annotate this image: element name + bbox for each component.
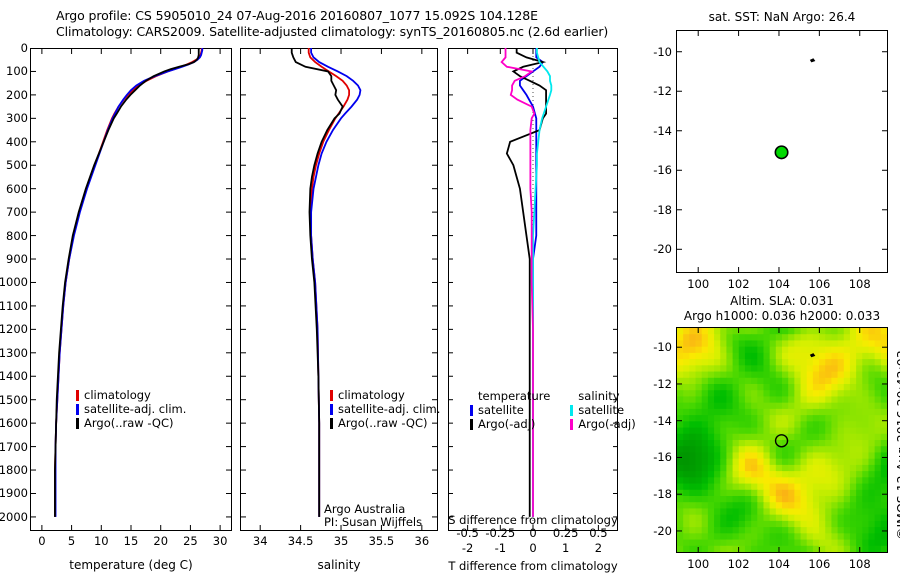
legend-item: Argo(..raw -QC): [76, 416, 186, 430]
tick-label: 900: [0, 252, 28, 266]
figure-title-line-2: Climatology: CARS2009. Satellite-adjuste…: [56, 24, 608, 39]
legend-label: climatology: [84, 389, 151, 402]
legend-swatch-satellite-clim: [76, 404, 79, 415]
legend-label: satellite: [478, 404, 524, 417]
difference-legend-salinity-column: salinity satellite Argo(-adj): [570, 389, 635, 431]
sla-map-overlay: [676, 327, 888, 553]
legend-header-temperature: temperature: [478, 390, 550, 403]
legend-item: satellite-adj. clim.: [76, 402, 186, 416]
tick-label: -14: [634, 124, 672, 138]
figure-title-line-1: Argo profile: CS 5905010_24 07-Aug-2016 …: [56, 8, 538, 23]
salinity-plot-canvas: [240, 48, 438, 531]
tick-label: 200: [0, 88, 28, 102]
temperature-plot-canvas: [30, 48, 232, 531]
tick-label: 1400: [0, 369, 28, 383]
legend-label: Argo(-adj): [478, 418, 535, 431]
tick-label: 0: [0, 41, 28, 55]
sla-map-title-line-1: Altim. SLA: 0.031: [676, 294, 888, 308]
tick-label: -14: [634, 414, 672, 428]
tick-label: -20: [634, 242, 672, 256]
tick-label: 500: [0, 158, 28, 172]
tick-label: 1500: [0, 393, 28, 407]
tick-label: 1800: [0, 463, 28, 477]
temperature-legend: climatology satellite-adj. clim. Argo(..…: [76, 388, 186, 430]
legend-label: Argo(-adj): [578, 418, 635, 431]
legend-item: satellite: [470, 403, 550, 417]
tick-label: 1000: [0, 275, 28, 289]
legend-label: Argo(..raw -QC): [338, 417, 428, 430]
tick-label: -12: [634, 377, 672, 391]
tick-label: 36: [397, 534, 447, 548]
salinity-legend: climatology satellite-adj. clim. Argo(..…: [330, 388, 440, 430]
tick-label: -16: [634, 450, 672, 464]
argo-australia-pi-note: PI: Susan Wijffels: [324, 516, 422, 530]
sla-map-title-line-2: Argo h1000: 0.036 h2000: 0.033: [666, 309, 898, 323]
tick-label: 1300: [0, 346, 28, 360]
legend-label: satellite: [578, 404, 624, 417]
legend-item: Argo(-adj): [470, 417, 550, 431]
legend-item: satellite-adj. clim.: [330, 402, 440, 416]
sst-map-title: sat. SST: NaN Argo: 26.4: [676, 10, 888, 24]
difference-legend-temperature-column: temperature satellite Argo(-adj): [470, 389, 550, 431]
difference-plot-canvas: [448, 48, 618, 531]
temperature-difference-axis-title: T difference from climatology: [443, 559, 623, 573]
tick-label: 800: [0, 229, 28, 243]
legend-label: Argo(..raw -QC): [84, 417, 174, 430]
tick-label: -10: [634, 45, 672, 59]
legend-label: satellite-adj. clim.: [84, 403, 186, 416]
legend-item: satellite: [570, 403, 635, 417]
tick-label: -12: [634, 84, 672, 98]
sst-map-canvas: [676, 30, 888, 273]
legend-swatch-argo-raw: [330, 418, 333, 429]
tick-label: 2: [573, 541, 623, 555]
tick-label: 108: [835, 277, 885, 291]
tick-label: 1200: [0, 322, 28, 336]
tick-label: 100: [0, 64, 28, 78]
tick-label: 0.5: [573, 526, 623, 540]
legend-item: climatology: [330, 388, 440, 402]
tick-label: -20: [634, 524, 672, 538]
legend-header-row: salinity: [570, 389, 635, 403]
legend-label: satellite-adj. clim.: [338, 403, 440, 416]
salinity-axis-title: salinity: [240, 558, 438, 572]
legend-item: Argo(..raw -QC): [330, 416, 440, 430]
legend-swatch-sal-argo-adj: [570, 419, 573, 430]
argo-profile-figure: Argo profile: CS 5905010_24 07-Aug-2016 …: [0, 0, 900, 580]
tick-label: 1600: [0, 416, 28, 430]
legend-item: climatology: [76, 388, 186, 402]
difference-legend: temperature satellite Argo(-adj) salinit…: [470, 389, 636, 431]
tick-label: 700: [0, 205, 28, 219]
tick-label: 400: [0, 135, 28, 149]
tick-label: 300: [0, 111, 28, 125]
tick-label: 1100: [0, 299, 28, 313]
legend-swatch-satellite-clim: [330, 404, 333, 415]
legend-item: Argo(-adj): [570, 417, 635, 431]
salinity-difference-axis-title: S difference from climatology: [448, 513, 618, 527]
legend-swatch-argo-raw: [76, 418, 79, 429]
tick-label: 600: [0, 182, 28, 196]
legend-header-row: temperature: [470, 389, 550, 403]
legend-swatch-climatology: [330, 390, 333, 401]
legend-label: climatology: [338, 389, 405, 402]
tick-label: -18: [634, 487, 672, 501]
legend-swatch-climatology: [76, 390, 79, 401]
copyright-label: ©IMOS 12-Aug-2016 20:42:03: [894, 350, 900, 540]
legend-swatch-temp-satellite: [470, 405, 473, 416]
tick-label: -18: [634, 203, 672, 217]
tick-label: 108: [835, 557, 885, 571]
tick-label: 1700: [0, 440, 28, 454]
tick-label: 1900: [0, 486, 28, 500]
temperature-axis-title: temperature (deg C): [30, 558, 232, 572]
tick-label: -16: [634, 163, 672, 177]
tick-label: 2000: [0, 510, 28, 524]
tick-label: -10: [634, 340, 672, 354]
legend-swatch-temp-argo-adj: [470, 419, 473, 430]
legend-swatch-sal-satellite: [570, 405, 573, 416]
legend-header-salinity: salinity: [578, 390, 619, 403]
